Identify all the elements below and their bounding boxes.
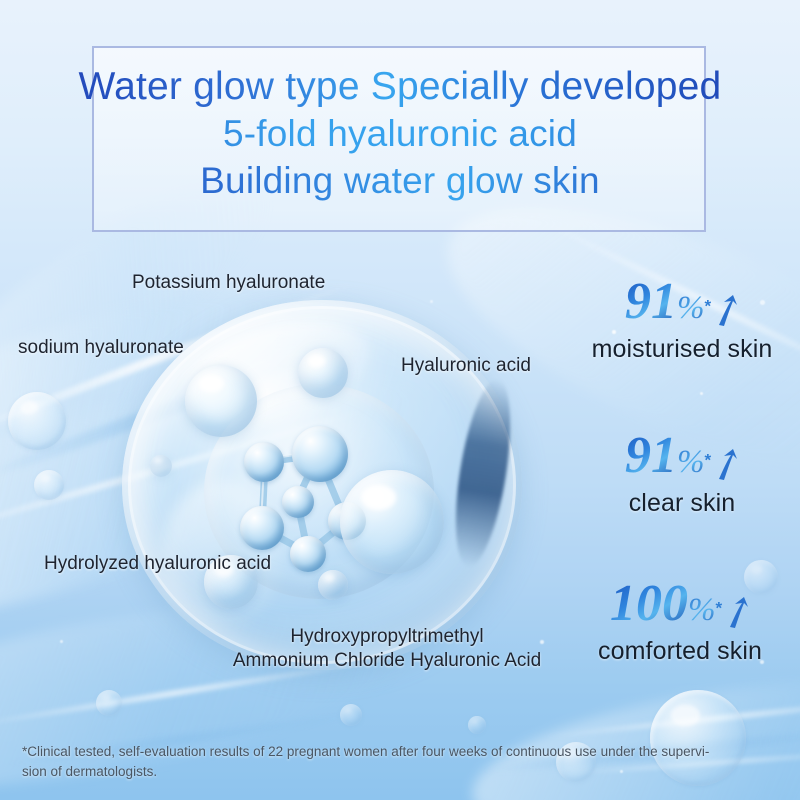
ingredient-label-hydrolyzed-hyaluronic-acid: Hydrolyzed hyaluronic acid	[44, 553, 271, 575]
sparkle-dot	[60, 640, 63, 643]
water-highlight-streak	[541, 696, 800, 740]
arrow-up-icon	[724, 596, 750, 635]
stat-footnote-mark: *	[704, 451, 711, 470]
stat-comforted-skin: 100%* comforted skin	[560, 578, 800, 666]
ingredient-label-hydroxypropyltrimethyl-ammonium-chloride: Hydroxypropyltrimethyl Ammonium Chloride…	[207, 625, 567, 674]
background-droplet	[34, 470, 64, 500]
headline-line-1: Water glow type Specially developed	[60, 62, 740, 111]
satellite-bubble	[340, 470, 444, 574]
stat-value-row: 100%*	[560, 578, 800, 635]
stat-unit: %	[677, 444, 705, 480]
stat-unit: %	[688, 592, 716, 628]
molecule-atom	[290, 536, 326, 572]
satellite-bubble	[185, 365, 257, 437]
stat-label: clear skin	[566, 489, 798, 518]
stat-footnote-mark: *	[704, 297, 711, 316]
background-droplet	[96, 690, 122, 716]
headline-line-3: Building water glow skin	[60, 158, 740, 205]
footnote-line-2: sion of dermatologists.	[22, 762, 790, 782]
satellite-bubble	[318, 570, 348, 600]
headline-line-2: 5-fold hyaluronic acid	[60, 111, 740, 158]
stat-footnote-mark: *	[715, 599, 722, 618]
arrow-up-icon	[713, 294, 739, 333]
ingredient-label-hyaluronic-acid: Hyaluronic acid	[401, 355, 531, 377]
satellite-bubble	[298, 348, 348, 398]
stat-value-row: 91%*	[566, 430, 798, 487]
molecule-atom	[292, 426, 348, 482]
headline: Water glow type Specially developed 5-fo…	[60, 62, 740, 204]
ingredient-label-potassium-hyaluronate: Potassium hyaluronate	[132, 272, 325, 294]
background-droplet	[468, 716, 486, 734]
ingredient-label-line-2: Ammonium Chloride Hyaluronic Acid	[207, 649, 567, 673]
sparkle-dot	[700, 392, 703, 395]
molecule-atom	[244, 442, 284, 482]
background-droplet	[340, 704, 362, 726]
ingredient-label-sodium-hyaluronate: sodium hyaluronate	[18, 337, 184, 359]
stat-unit: %	[677, 290, 705, 326]
stat-value: 91	[625, 276, 677, 328]
stat-value: 100	[610, 578, 688, 630]
footnote-disclaimer: *Clinical tested, self-evaluation result…	[22, 742, 790, 781]
ingredient-label-line-1: Hydroxypropyltrimethyl	[207, 625, 567, 649]
stat-clear-skin: 91%* clear skin	[566, 430, 798, 518]
satellite-bubble	[150, 455, 172, 477]
stat-moisturised-skin: 91%* moisturised skin	[566, 276, 798, 364]
background-droplet	[8, 392, 66, 450]
stat-value: 91	[625, 430, 677, 482]
stat-label: moisturised skin	[566, 335, 798, 364]
stat-value-row: 91%*	[566, 276, 798, 333]
stat-label: comforted skin	[560, 637, 800, 666]
molecule-atom	[240, 506, 284, 550]
footnote-line-1: *Clinical tested, self-evaluation result…	[22, 742, 790, 762]
product-infographic-poster: Water glow type Specially developed 5-fo…	[0, 0, 800, 800]
molecule-atom	[282, 486, 314, 518]
arrow-up-icon	[713, 448, 739, 487]
